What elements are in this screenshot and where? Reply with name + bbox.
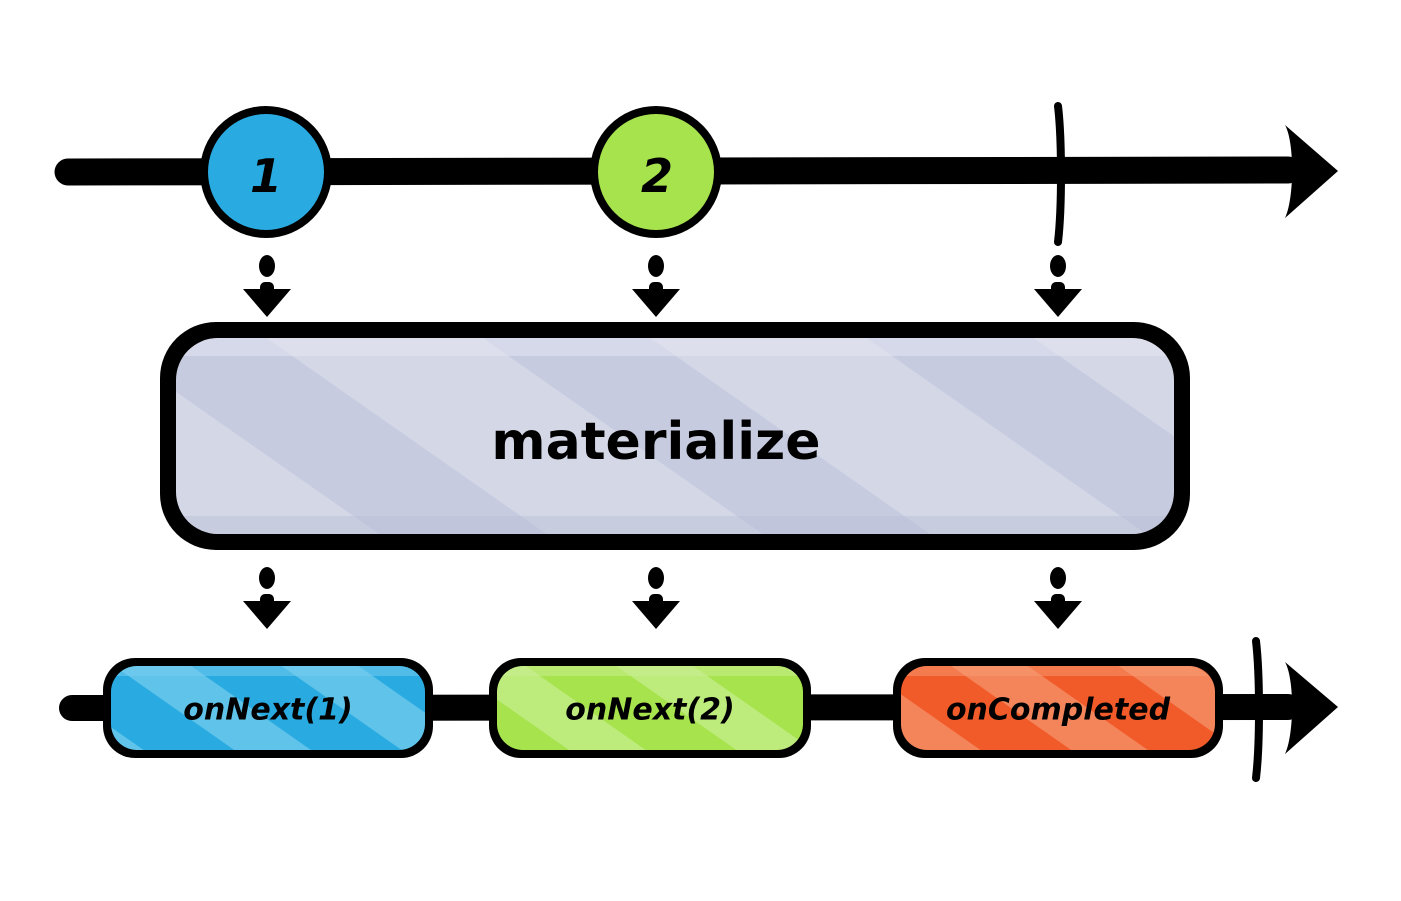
result-timeline [72,641,1338,778]
connectors-bottom [243,567,1082,629]
source-timeline [68,106,1338,242]
operator-box[interactable] [160,322,1190,550]
connectors-top [243,255,1082,317]
connector-out-1-icon [243,567,291,629]
source-timeline-arrowhead [1285,125,1338,218]
notification-oncompleted[interactable] [893,658,1223,758]
marble-diagram: 1 2 materialize onNext(1) onNext(2) onCo… [0,0,1401,901]
source-complete-marker [1058,106,1061,242]
notification-onnext-1[interactable] [103,658,433,758]
connector-out-2-icon [632,567,680,629]
connector-marble-1-icon [243,255,291,317]
result-complete-marker [1256,641,1259,778]
diagram-canvas [0,0,1401,901]
result-timeline-arrowhead [1285,662,1338,754]
source-marble-2[interactable] [590,106,722,238]
notification-onnext-2[interactable] [489,658,811,758]
connector-marble-2-icon [632,255,680,317]
source-marble-1[interactable] [200,106,332,238]
connector-out-3-icon [1034,567,1082,629]
connector-complete-icon [1034,255,1082,317]
